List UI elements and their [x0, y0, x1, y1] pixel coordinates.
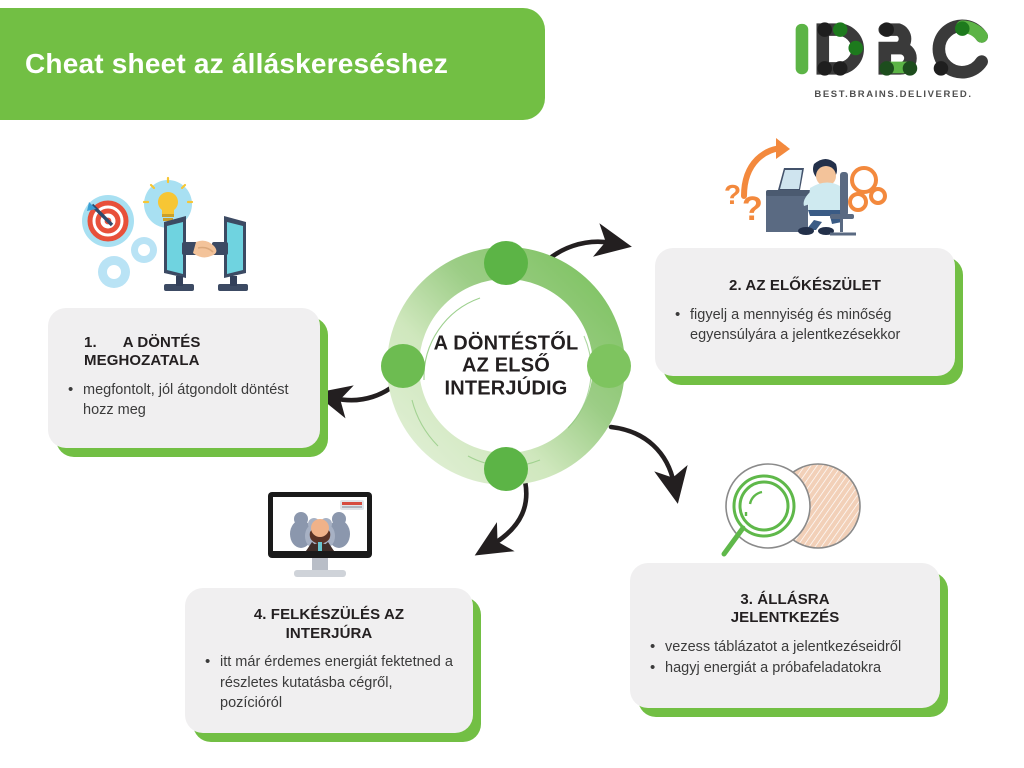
gears-orange-icon: [850, 168, 885, 210]
list-item: megfontolt, jól átgondolt döntést hozz m…: [66, 380, 302, 421]
card-title-line1: 3. ÁLLÁSRA: [648, 591, 922, 609]
handshake-monitors-icon: [72, 176, 252, 302]
card-title-line2: MEGHOZATALA: [84, 352, 302, 370]
card-title-line1: 4. FELKÉSZÜLÉS AZ: [203, 606, 455, 624]
center-label-line2: AZ ELSŐ: [416, 355, 596, 377]
center-cycle-ring: A DÖNTÉSTŐL AZ ELSŐ INTERJÚDIG: [372, 232, 640, 500]
person-at-desk-icon: ? ?: [718, 132, 890, 244]
video-interview-monitor-icon: [258, 486, 382, 584]
card-title-line2: INTERJÚRA: [203, 625, 455, 643]
card-number: 1.: [84, 334, 97, 351]
svg-text:?: ?: [724, 179, 741, 210]
illustration-search-venn: [706, 458, 882, 570]
step-card-2: 2. AZ ELŐKÉSZÜLET figyelj a mennyiség és…: [655, 248, 955, 376]
card-title: 4. FELKÉSZÜLÉS AZ INTERJÚRA: [203, 606, 455, 643]
illustration-preparation-desk: ? ?: [718, 132, 890, 244]
screen-badge: [340, 500, 364, 510]
target-icon: [87, 202, 126, 239]
idbc-logo: BEST.BRAINS.DELIVERED.: [791, 18, 996, 100]
card-bullets: megfontolt, jól átgondolt döntést hozz m…: [66, 380, 302, 422]
card-body: 1.A DÖNTÉS MEGHOZATALA megfontolt, jól á…: [48, 308, 320, 448]
desk-icon: [766, 194, 808, 232]
card-title-line2: JELENTKEZÉS: [648, 609, 922, 627]
page-title: Cheat sheet az álláskereséshez: [25, 48, 448, 80]
card-body: 4. FELKÉSZÜLÉS AZ INTERJÚRA itt már érde…: [185, 588, 473, 733]
monitors-icon: [164, 216, 248, 291]
card-title: 3. ÁLLÁSRA JELENTKEZÉS: [648, 591, 922, 628]
logo-tagline: BEST.BRAINS.DELIVERED.: [791, 89, 996, 100]
infographic-canvas: Cheat sheet az álláskereséshez BEST.: [0, 0, 1024, 768]
center-label-line3: INTERJÚDIG: [416, 377, 596, 399]
card-bullets: figyelj a mennyiség és minőség egyensúly…: [673, 305, 937, 347]
title-banner: Cheat sheet az álláskereséshez: [0, 8, 545, 120]
arrow-head-orange: [776, 138, 790, 159]
step-card-4: 4. FELKÉSZÜLÉS AZ INTERJÚRA itt már érde…: [185, 588, 473, 733]
card-bullets: itt már érdemes energiát fektetned a rés…: [203, 652, 455, 715]
card-body: 3. ÁLLÁSRA JELENTKEZÉS vezess táblázatot…: [630, 563, 940, 708]
illustration-decision-handshake: [72, 176, 252, 302]
step-card-3: 3. ÁLLÁSRA JELENTKEZÉS vezess táblázatot…: [630, 563, 940, 708]
card-body: 2. AZ ELŐKÉSZÜLET figyelj a mennyiség és…: [655, 248, 955, 376]
ring-node-bottom: [484, 447, 528, 491]
idbc-logo-mark: [791, 18, 996, 80]
ring-node-top: [484, 241, 528, 285]
center-label-line1: A DÖNTÉSTŐL: [416, 332, 596, 354]
magnifier-venn-icon: [706, 458, 882, 570]
svg-text:?: ?: [742, 190, 763, 228]
card-title: 2. AZ ELŐKÉSZÜLET: [673, 277, 937, 295]
card-bullets: vezess táblázatot a jelentkezéseidről ha…: [648, 637, 922, 680]
list-item: vezess táblázatot a jelentkezéseidről: [648, 637, 922, 658]
list-item: hagyj energiát a próbafeladatokra: [648, 658, 922, 679]
list-item: figyelj a mennyiség és minőség egyensúly…: [673, 305, 937, 346]
illustration-interview-monitor: [258, 486, 382, 584]
step-card-1: 1.A DÖNTÉS MEGHOZATALA megfontolt, jól á…: [48, 308, 320, 448]
center-label: A DÖNTÉSTŐL AZ ELSŐ INTERJÚDIG: [416, 332, 596, 399]
card-title: 1.A DÖNTÉS MEGHOZATALA: [66, 334, 302, 371]
card-title-line1: A DÖNTÉS: [123, 334, 201, 351]
list-item: itt már érdemes energiát fektetned a rés…: [203, 652, 455, 714]
